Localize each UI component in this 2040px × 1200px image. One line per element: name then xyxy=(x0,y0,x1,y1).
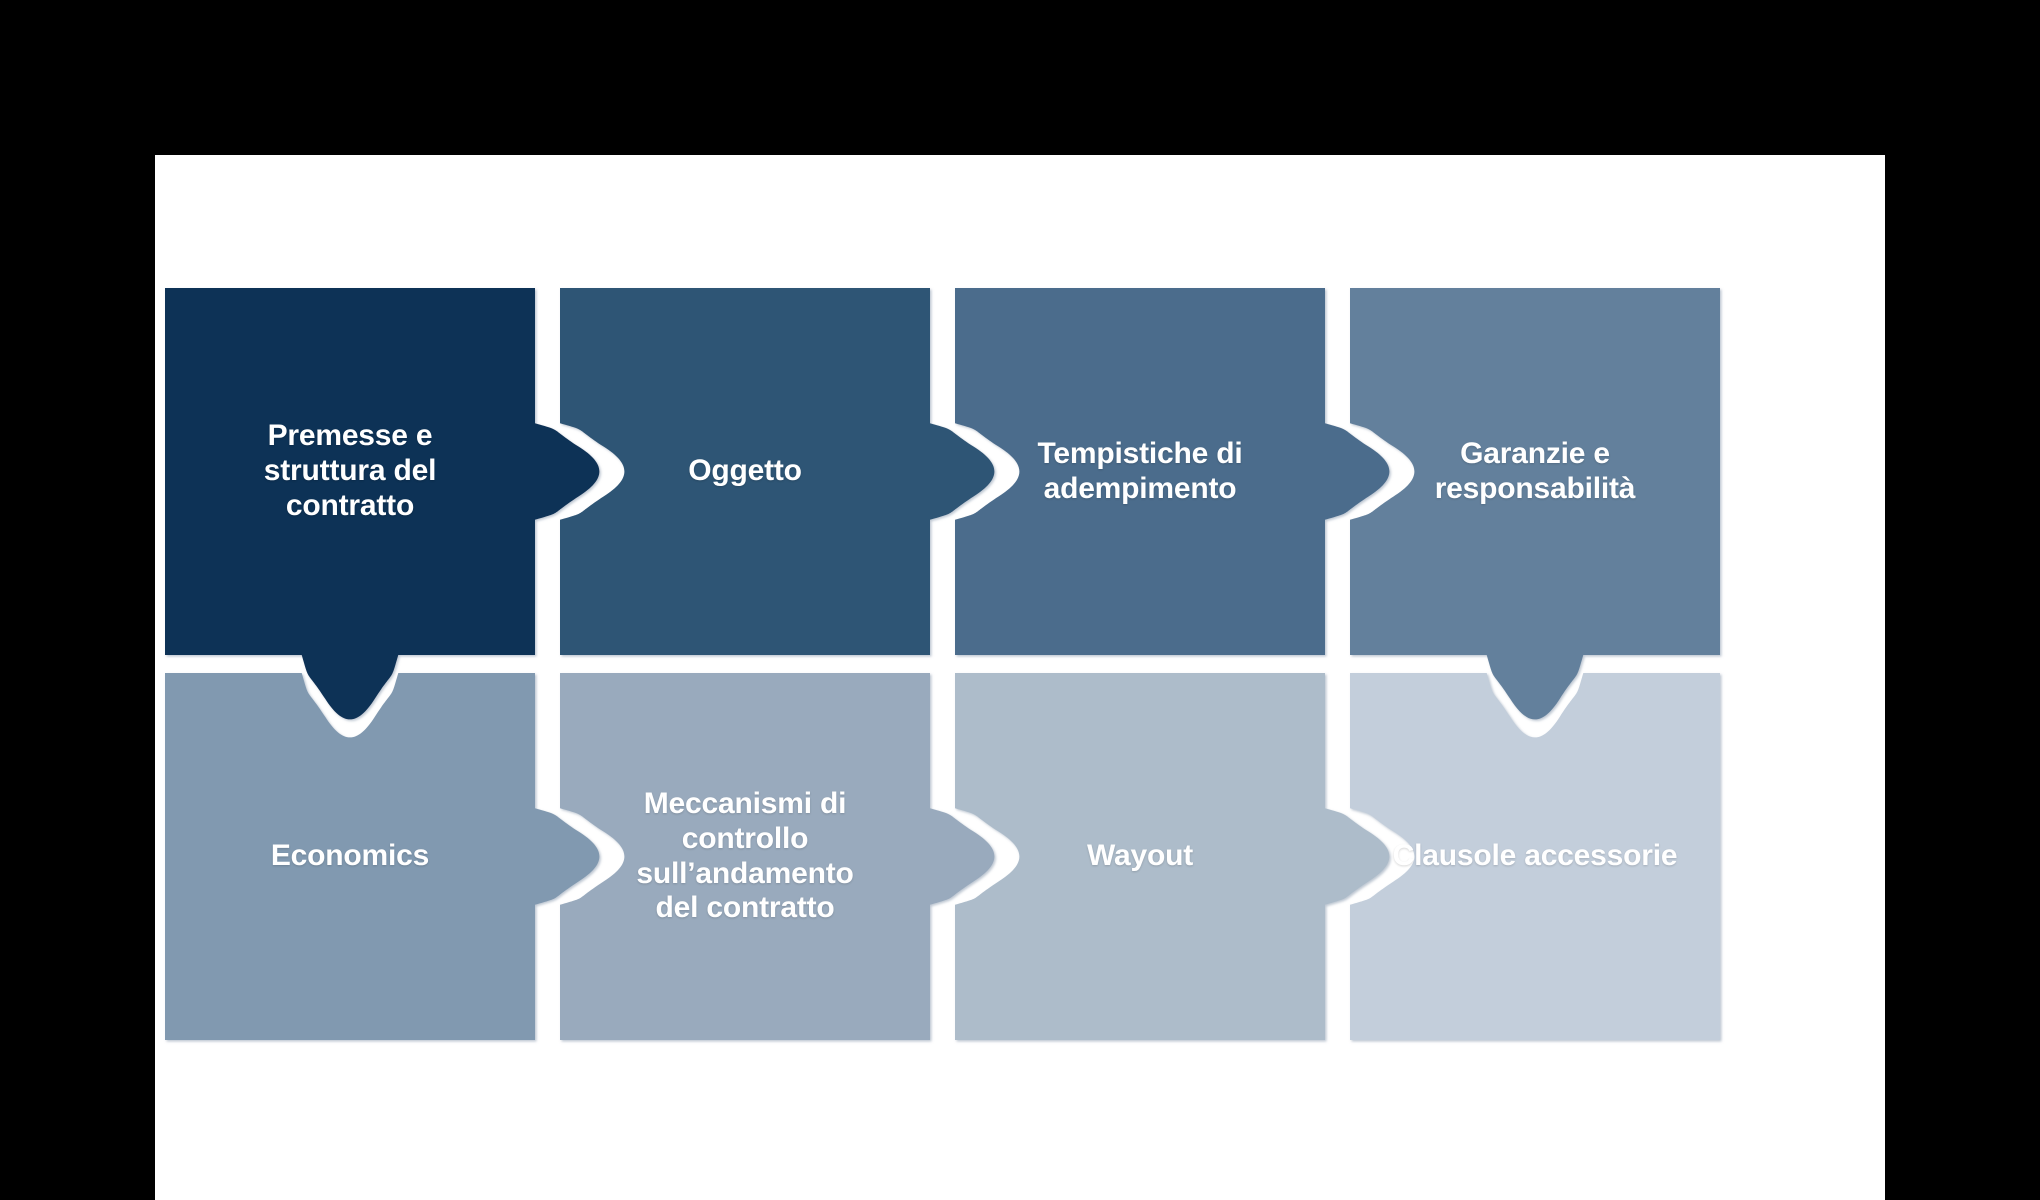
puzzle-piece-clausole[interactable] xyxy=(1350,673,1720,1040)
puzzle-piece-meccanismi[interactable] xyxy=(560,673,994,1040)
puzzle-piece-wayout[interactable] xyxy=(955,673,1389,1040)
puzzle-diagram xyxy=(155,155,1885,1200)
puzzle-piece-premesse[interactable] xyxy=(165,288,599,719)
slide-surface: Premesse e struttura del contrattoOggett… xyxy=(155,155,1885,1200)
puzzle-piece-tempistiche[interactable] xyxy=(955,288,1389,655)
puzzle-piece-garanzie[interactable] xyxy=(1350,288,1720,719)
puzzle-piece-oggetto[interactable] xyxy=(560,288,994,655)
puzzle-piece-economics[interactable] xyxy=(165,673,599,1040)
screenshot-canvas: Premesse e struttura del contrattoOggett… xyxy=(0,0,2040,1200)
